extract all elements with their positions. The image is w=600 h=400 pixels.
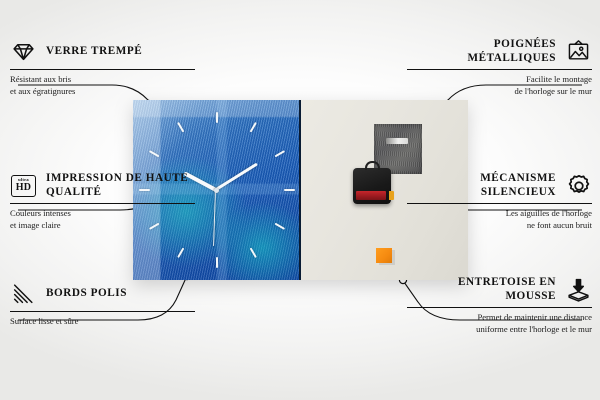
callout-rule	[407, 69, 592, 70]
hour-marker	[177, 248, 184, 259]
gear-icon	[565, 172, 592, 199]
callout-impression-haute-qualite: ultra HD IMPRESSION DE HAUTE QUALITÉ Cou…	[10, 172, 195, 232]
callout-verre-trempe: VERRE TREMPÉ Résistant aux bris et aux é…	[10, 38, 195, 97]
foam-spacer	[376, 248, 392, 263]
hour-marker	[275, 223, 286, 230]
callout-title: MÉCANISME SILENCIEUX	[407, 172, 556, 199]
callout-poignees-metalliques: POIGNÉES MÉTALLIQUES Facilite le montage…	[407, 38, 592, 98]
callout-header: ENTRETOISE EN MOUSSE	[407, 276, 592, 303]
hour-marker	[149, 150, 160, 157]
battery	[356, 191, 386, 200]
callout-description: Permet de maintenir une distance uniform…	[407, 312, 592, 335]
callout-title: IMPRESSION DE HAUTE QUALITÉ	[46, 172, 195, 199]
infographic-canvas: VERRE TREMPÉ Résistant aux bris et aux é…	[0, 0, 600, 400]
hour-marker	[177, 122, 184, 133]
hour-marker	[216, 112, 218, 123]
hour-marker	[284, 189, 295, 191]
clock-mechanism	[353, 168, 391, 204]
hour-marker	[216, 257, 218, 268]
polished-edge-icon	[10, 280, 37, 307]
ultra-hd-large-text: HD	[16, 183, 32, 193]
callout-rule	[10, 69, 195, 70]
diamond-icon	[10, 38, 37, 65]
callout-title: ENTRETOISE EN MOUSSE	[407, 276, 556, 303]
callout-header: BORDS POLIS	[10, 280, 195, 307]
arrow-onto-pad-icon	[565, 276, 592, 303]
callout-description: Surface lisse et sûre	[10, 316, 195, 328]
hanger-slot	[386, 138, 408, 144]
callout-rule	[10, 203, 195, 204]
ultra-hd-icon: ultra HD	[10, 172, 37, 199]
hand-pivot	[214, 188, 219, 193]
callout-rule	[407, 203, 592, 204]
callout-description: Résistant aux bris et aux égratignures	[10, 74, 195, 97]
callout-description: Couleurs intenses et image claire	[10, 208, 195, 231]
callout-header: POIGNÉES MÉTALLIQUES	[407, 38, 592, 65]
callout-rule	[407, 307, 592, 308]
hour-marker	[250, 122, 257, 133]
mechanism-hanging-loop	[365, 161, 380, 170]
callout-mecanisme-silencieux: MÉCANISME SILENCIEUX Les aiguilles de l'…	[407, 172, 592, 232]
callout-header: ultra HD IMPRESSION DE HAUTE QUALITÉ	[10, 172, 195, 199]
hanging-frame-icon	[565, 38, 592, 65]
callout-title: POIGNÉES MÉTALLIQUES	[407, 38, 556, 65]
callout-description: Facilite le montage de l'horloge sur le …	[407, 74, 592, 97]
battery-terminal	[389, 191, 394, 200]
callout-description: Les aiguilles de l'horloge ne font aucun…	[407, 208, 592, 231]
callout-rule	[10, 311, 195, 312]
hour-marker	[250, 248, 257, 259]
metal-hanger-plate	[374, 124, 422, 174]
hour-marker	[275, 150, 286, 157]
callout-bords-polis: BORDS POLIS Surface lisse et sûre	[10, 280, 195, 328]
callout-title: BORDS POLIS	[46, 287, 127, 301]
callout-header: MÉCANISME SILENCIEUX	[407, 172, 592, 199]
callout-entretoise-en-mousse: ENTRETOISE EN MOUSSE Permet de maintenir…	[407, 276, 592, 336]
callout-title: VERRE TREMPÉ	[46, 45, 142, 59]
callout-header: VERRE TREMPÉ	[10, 38, 195, 65]
